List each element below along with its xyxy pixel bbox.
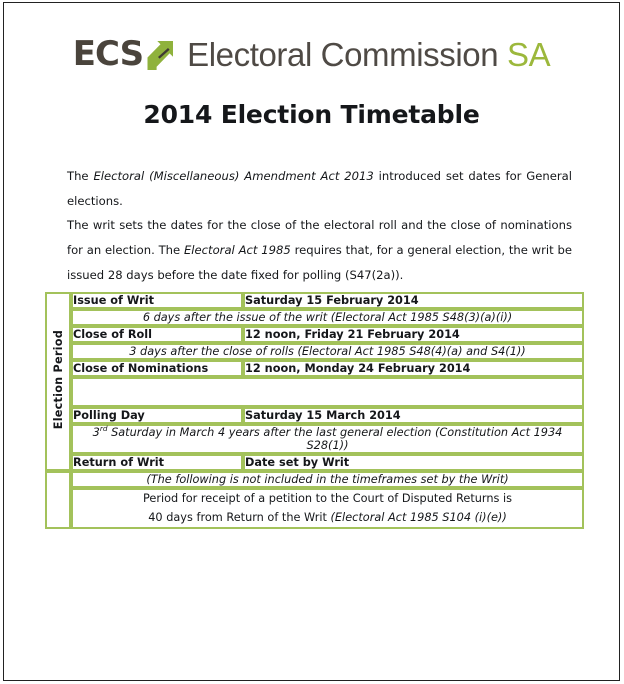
petition-act-reference: (Electoral Act 1985 S104 (i)(e)): [331, 511, 507, 524]
timetable-event-date: Date set by Writ: [243, 454, 584, 471]
table-row: Election PeriodIssue of WritSaturday 15 …: [45, 292, 584, 309]
table-row: 3rd Saturday in March 4 years after the …: [45, 424, 584, 454]
timetable-event-date: 12 noon, Friday 21 February 2014: [243, 326, 584, 343]
logo-ecs-letters: ECS: [73, 37, 143, 71]
table-row: Return of WritDate set by Writ: [45, 454, 584, 471]
timetable-legislation-note: 3rd Saturday in March 4 years after the …: [71, 424, 584, 454]
table-row: [45, 377, 584, 407]
post-writ-disclaimer: (The following is not included in the ti…: [71, 471, 584, 488]
table-row: Close of Roll12 noon, Friday 21 February…: [45, 326, 584, 343]
organisation-logo: ECS Electoral Commission SA: [4, 29, 619, 81]
timetable-body: Election PeriodIssue of WritSaturday 15 …: [45, 292, 584, 529]
timetable-event-date: Saturday 15 February 2014: [243, 292, 584, 309]
page-title: 2014 Election Timetable: [4, 100, 619, 129]
intro-paragraph-1: The Electoral (Miscellaneous) Amendment …: [67, 164, 572, 214]
para2-act-title: Electoral Act 1985: [184, 243, 291, 257]
logo-words-main: Electoral Commission: [187, 36, 507, 73]
para1-act-title: Electoral (Miscellaneous) Amendment Act …: [93, 169, 373, 183]
election-period-side-label: Election Period: [45, 292, 71, 471]
table-row: 3 days after the close of rolls (Elector…: [45, 343, 584, 360]
intro-paragraph-2: The writ sets the dates for the close of…: [67, 213, 572, 288]
timetable-event-label: Close of Roll: [71, 326, 243, 343]
logo-mark: ECS: [73, 38, 174, 72]
ordinal-number: 3: [93, 426, 100, 439]
timetable-event-label: Issue of Writ: [71, 292, 243, 309]
timetable-event-label: Return of Writ: [71, 454, 243, 471]
table-row: Period for receipt of a petition to the …: [45, 488, 584, 529]
timetable-event-date: 12 noon, Monday 24 February 2014: [243, 360, 584, 377]
timetable-spacer-row: [71, 377, 584, 407]
timetable-legislation-note: 6 days after the issue of the writ (Elec…: [71, 309, 584, 326]
post-writ-side-cell: [45, 471, 71, 529]
election-period-label-text: Election Period: [52, 330, 65, 429]
green-arrow-pencil-icon: [144, 40, 174, 71]
table-row: (The following is not included in the ti…: [45, 471, 584, 488]
table-row: Close of Nominations12 noon, Monday 24 F…: [45, 360, 584, 377]
disputed-returns-petition-note: Period for receipt of a petition to the …: [71, 488, 584, 529]
timetable-event-date: Saturday 15 March 2014: [243, 407, 584, 424]
timetable-event-label: Polling Day: [71, 407, 243, 424]
para1-text-a: The: [67, 169, 93, 183]
timetable-legislation-note: 3 days after the close of rolls (Elector…: [71, 343, 584, 360]
note-text: Saturday in March 4 years after the last…: [107, 426, 562, 452]
logo-wordmark: Electoral Commission SA: [187, 36, 550, 74]
table-row: Polling DaySaturday 15 March 2014: [45, 407, 584, 424]
logo-words-accent: SA: [507, 36, 550, 73]
document-page: ECS Electoral Commission SA 2014 Electio…: [3, 2, 620, 681]
election-timetable: Election PeriodIssue of WritSaturday 15 …: [45, 292, 584, 529]
petition-line-1: Period for receipt of a petition to the …: [143, 492, 512, 505]
petition-line-2: 40 days from Return of the Writ: [148, 511, 330, 524]
timetable-event-label: Close of Nominations: [71, 360, 243, 377]
table-row: 6 days after the issue of the writ (Elec…: [45, 309, 584, 326]
